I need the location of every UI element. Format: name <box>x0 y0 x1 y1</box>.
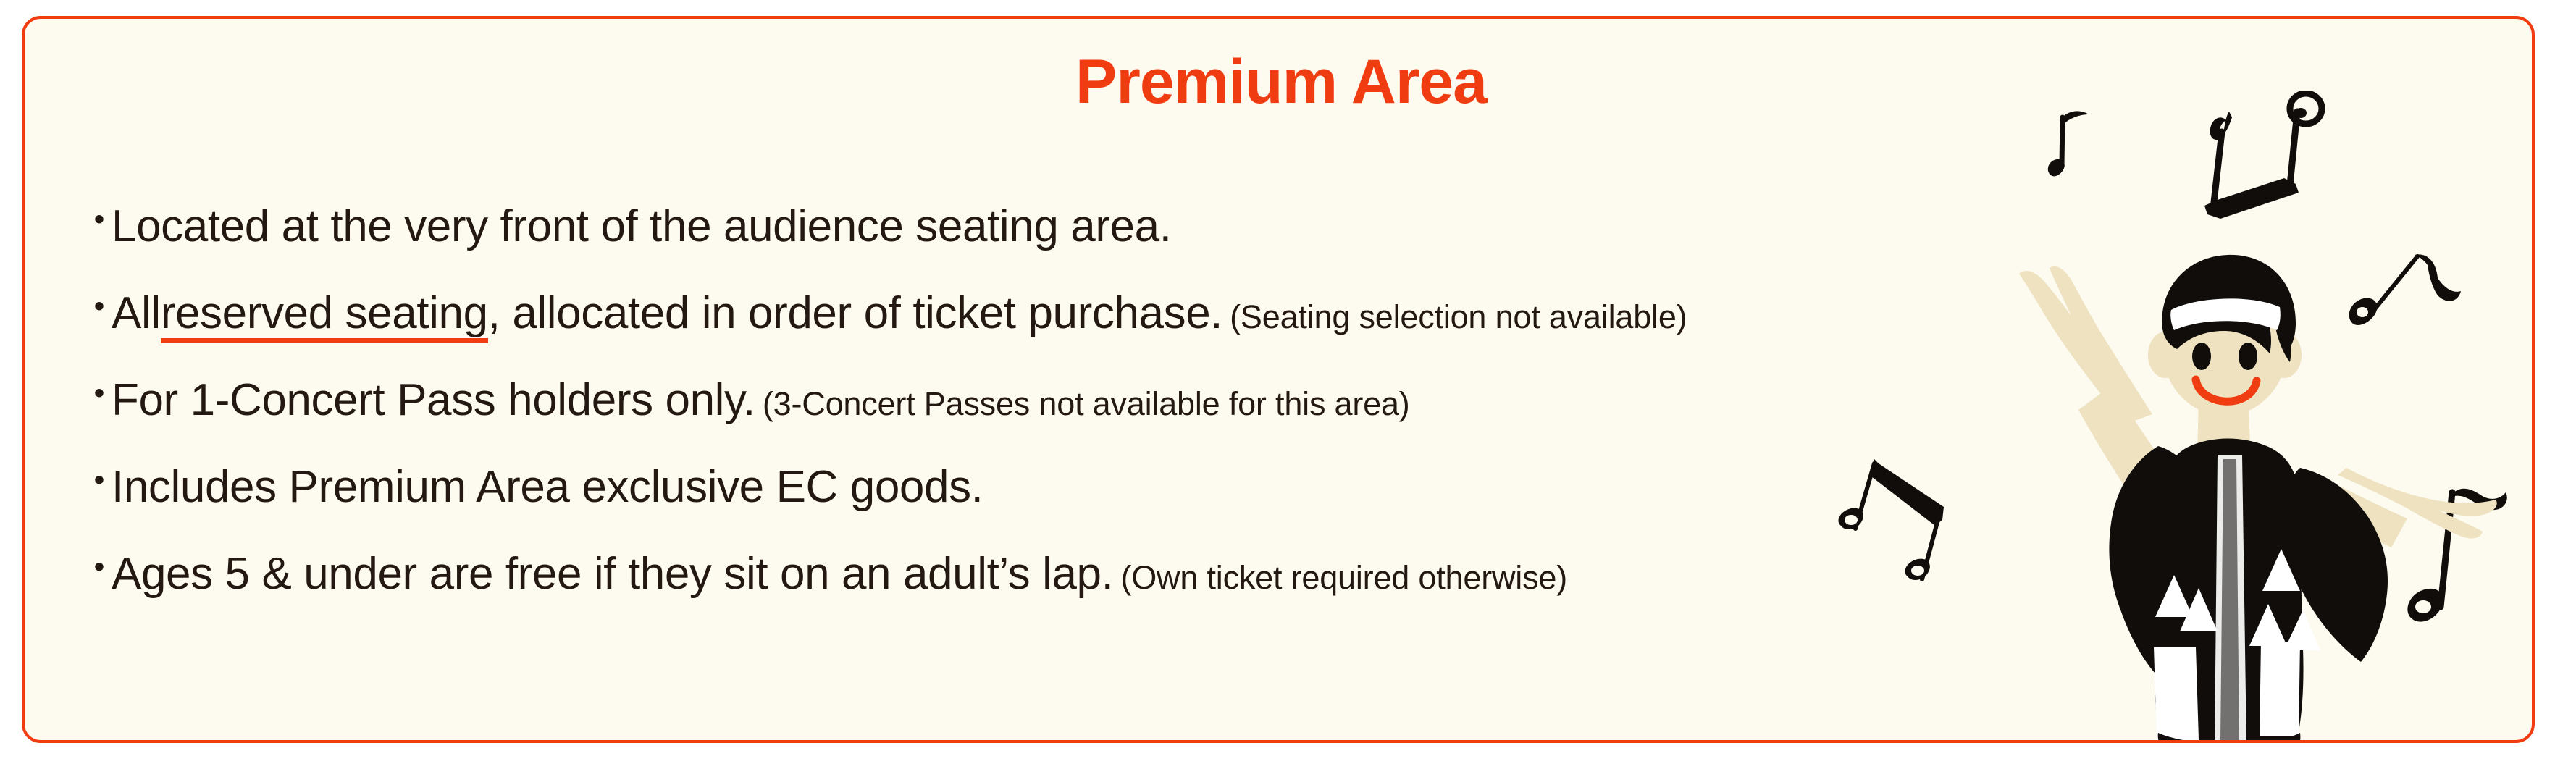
list-item: ・ Located at the very front of the audie… <box>80 204 2050 291</box>
page-title: Premium Area <box>25 51 2535 113</box>
eighth-note-with-flag-icon <box>2342 243 2487 366</box>
list-item-text-after: , allocated in order of ticket purchase. <box>488 291 1222 336</box>
list-item-note: (3-Concert Passes not available for this… <box>763 387 1410 420</box>
list-item: ・ For 1-Concert Pass holders only. (3-Co… <box>80 378 2050 465</box>
eighth-note-icon <box>2038 104 2103 191</box>
bullet-marker-icon: ・ <box>80 549 112 588</box>
list-item: ・ All reserved seating , allocated in or… <box>80 291 2050 378</box>
list-item-text-before: All <box>112 291 161 336</box>
eighth-note-icon <box>2400 476 2535 643</box>
underlined-emphasis-text: reserved seating <box>161 291 488 336</box>
list-item-note: (Own ticket required otherwise) <box>1120 561 1567 594</box>
list-item: ・ Ages 5 & under are free if they sit on… <box>80 552 2050 639</box>
bullet-marker-icon: ・ <box>80 462 112 501</box>
list-item-text: Located at the very front of the audienc… <box>112 204 1172 249</box>
list-item-note: (Seating selection not available) <box>1230 301 1687 333</box>
bullet-marker-icon: ・ <box>80 288 112 327</box>
bullet-marker-icon: ・ <box>80 201 112 240</box>
list-item-text: Ages 5 & under are free if they sit on a… <box>112 552 1113 597</box>
list-item-text: Includes Premium Area exclusive EC goods… <box>112 465 983 510</box>
poster-canvas: Premium Area ・ Located at the very front… <box>0 0 2576 777</box>
premium-area-info-panel: Premium Area ・ Located at the very front… <box>22 16 2535 743</box>
list-item-text: For 1-Concert Pass holders only. <box>112 378 755 423</box>
premium-area-benefits-list: ・ Located at the very front of the audie… <box>80 204 2050 639</box>
bullet-marker-icon: ・ <box>80 375 112 414</box>
list-item: ・ Includes Premium Area exclusive EC goo… <box>80 465 2050 552</box>
